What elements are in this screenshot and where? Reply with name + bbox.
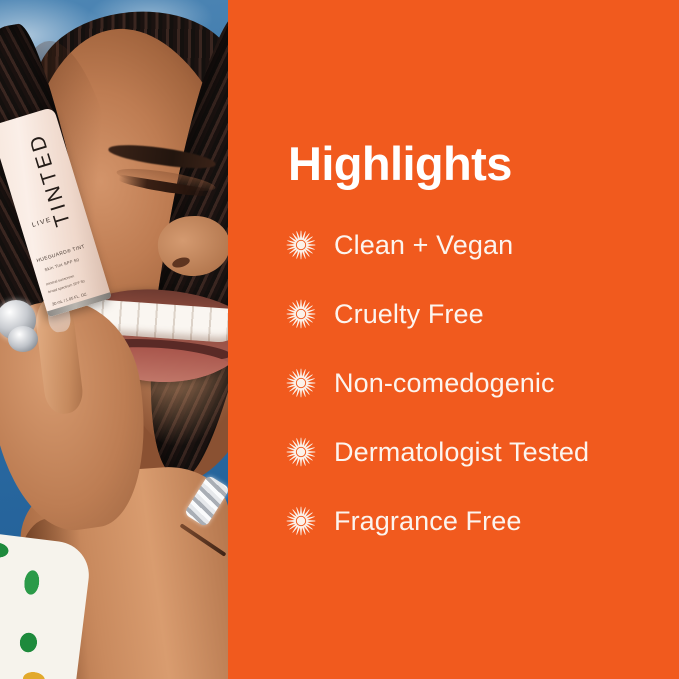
page-title: Highlights	[288, 140, 512, 187]
highlights-panel: Highlights Clean + VeganCruelty FreeNon-…	[228, 0, 679, 679]
product-highlights-graphic: TINTED LIVE HUEGUARD® TINT Skin Tint SPF…	[0, 0, 679, 679]
highlight-item: Cruelty Free	[286, 297, 679, 331]
highlight-item-label: Dermatologist Tested	[334, 439, 589, 466]
highlight-item: Clean + Vegan	[286, 228, 679, 262]
sunburst-icon	[286, 437, 316, 467]
tube-brand-secondary-text: LIVE	[31, 216, 53, 229]
sunburst-icon	[286, 230, 316, 260]
highlight-item-label: Clean + Vegan	[334, 232, 513, 259]
highlight-item: Non-comedogenic	[286, 366, 679, 400]
shirt-pattern	[0, 531, 93, 679]
sunburst-icon	[286, 368, 316, 398]
highlight-item: Fragrance Free	[286, 504, 679, 538]
highlight-item-label: Non-comedogenic	[334, 370, 555, 397]
silver-ring-2	[8, 326, 38, 352]
highlight-item-label: Cruelty Free	[334, 301, 484, 328]
patterned-shirt	[0, 531, 93, 679]
sunburst-icon	[286, 299, 316, 329]
sunburst-icon	[286, 506, 316, 536]
product-lifestyle-photo: TINTED LIVE HUEGUARD® TINT Skin Tint SPF…	[0, 0, 228, 679]
highlights-list: Clean + VeganCruelty FreeNon-comedogenic…	[286, 228, 679, 573]
highlight-item-label: Fragrance Free	[334, 508, 521, 535]
highlight-item: Dermatologist Tested	[286, 435, 679, 469]
